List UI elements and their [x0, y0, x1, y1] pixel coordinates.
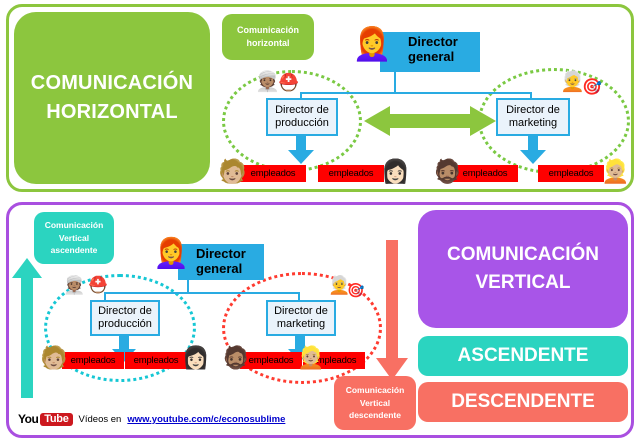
callout-comunicacion-horizontal: Comunicación horizontal [222, 14, 314, 60]
hero-title-horizontal: COMUNICACIÓN HORIZONTAL [14, 12, 210, 184]
footer-label: Vídeos en [79, 414, 122, 425]
youtube-logo-icon: You Tube [18, 412, 73, 426]
node-director-general-top: Directorgeneral [380, 32, 480, 72]
callout-ascendente-line1: Comunicación [45, 219, 104, 232]
connector-dg-vertical-top [394, 72, 396, 94]
chip-ascendente: ASCENDENTE [418, 336, 628, 376]
down-arrow-produccion-top-icon [288, 136, 314, 164]
hardhat-icon: ⛑️ [278, 74, 299, 91]
callout-ascendente-line3: ascendente [45, 244, 104, 257]
down-arrow-marketing-top-icon [520, 136, 546, 164]
node-empleados-bottom-1: empleados [62, 352, 124, 369]
callout-descendente-line3: descendente [346, 409, 405, 422]
connector-horizontal-bar-bottom [104, 292, 300, 294]
node-empleados-bottom-2: empleados [125, 352, 187, 369]
connector-horizontal-bar-top [300, 92, 532, 94]
target-icon: 🎯 [582, 80, 602, 96]
avatar-produccion-worker-icon: 👳🏽 [255, 72, 280, 92]
node-director-general-bottom: Directorgeneral [178, 244, 264, 280]
node-director-marketing-top: Director demarketing [496, 98, 570, 136]
callout-horizontal-line2: horizontal [237, 37, 299, 51]
callout-descendente-line1: Comunicación [346, 384, 405, 397]
avatar-empleado-top-4-icon: 👱🏼 [601, 160, 630, 183]
node-director-produccion-top: Director deproducción [266, 98, 338, 136]
avatar-empleado-top-1-icon: 🧑🏼 [218, 160, 247, 183]
node-empleados-top-1: empleados [240, 165, 306, 182]
callout-vertical-descendente: Comunicación Vertical descendente [334, 376, 416, 430]
target-bottom-icon: 🎯 [347, 283, 364, 297]
avatar-director-general-bottom-icon: 👩‍🦰 [153, 240, 189, 269]
infographic-canvas: COMUNICACIÓN HORIZONTAL Comunicación hor… [0, 0, 640, 442]
avatar-empleado-bottom-3-icon: 🧔🏽 [222, 347, 249, 369]
ascendente-up-arrow-icon [12, 258, 42, 398]
hero-horizontal-line2: HORIZONTAL [31, 98, 193, 127]
callout-ascendente-line2: Vertical [45, 232, 104, 245]
bidirectional-arrow-icon [364, 104, 496, 138]
avatar-empleado-top-3-icon: 🧔🏽 [433, 160, 462, 183]
node-empleados-top-4: empleados [538, 165, 604, 182]
callout-vertical-ascendente: Comunicación Vertical ascendente [34, 212, 114, 264]
descendente-down-arrow-icon [376, 240, 408, 380]
footer-youtube-link[interactable]: www.youtube.com/c/econosublime [127, 414, 285, 425]
avatar-empleado-top-2-icon: 👩🏻 [381, 160, 410, 183]
chip-descendente: DESCENDENTE [418, 382, 628, 422]
hero-vertical-line1: COMUNICACIÓN [447, 241, 599, 269]
callout-descendente-line2: Vertical [346, 397, 405, 410]
avatar-director-general-icon: 👩‍🦰 [352, 28, 392, 60]
hero-title-vertical: COMUNICACIÓN VERTICAL [418, 210, 628, 328]
hero-horizontal-line1: COMUNICACIÓN [31, 69, 193, 98]
youtube-tube-badge: Tube [40, 413, 72, 426]
footer: You Tube Vídeos en www.youtube.com/c/eco… [18, 408, 318, 430]
avatar-produccion-worker-bottom-icon: 👳🏽 [63, 276, 85, 294]
avatar-empleado-bottom-4-icon: 👱🏼 [297, 347, 324, 369]
hero-vertical-line2: VERTICAL [447, 269, 599, 297]
hardhat-bottom-icon: ⛑️ [88, 278, 108, 294]
node-director-marketing-bottom: Director demarketing [266, 300, 336, 336]
avatar-empleado-bottom-2-icon: 👩🏻 [182, 347, 209, 369]
youtube-you-text: You [18, 412, 38, 426]
node-empleados-top-2: empleados [318, 165, 384, 182]
node-director-produccion-bottom: Director deproducción [90, 300, 160, 336]
avatar-empleado-bottom-1-icon: 🧑🏼 [40, 347, 67, 369]
callout-horizontal-line1: Comunicación [237, 24, 299, 38]
